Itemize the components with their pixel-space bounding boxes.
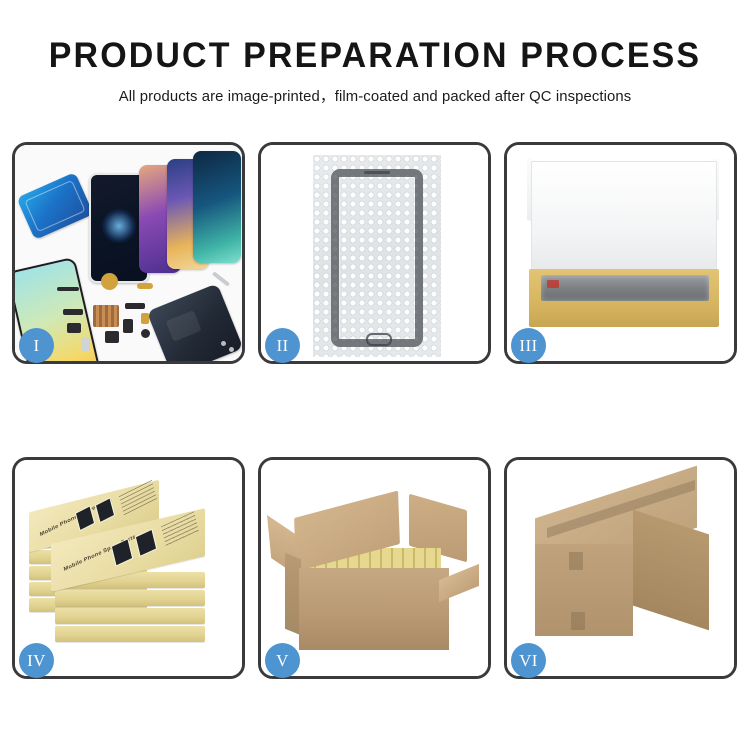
step-6-image xyxy=(507,460,734,676)
step-5-image xyxy=(261,460,488,676)
part-sim-tray xyxy=(81,337,90,351)
process-step-panel-6[interactable]: VI xyxy=(504,457,737,679)
part-camera-module xyxy=(105,331,119,343)
step-4-image: Mobile Phone Spare Parts Mobile Phone Sp… xyxy=(15,460,242,676)
phone-parts-scene xyxy=(15,145,242,361)
part-logic-board xyxy=(93,305,119,327)
box-spec-lines-front xyxy=(161,511,199,547)
phone-screen-teal xyxy=(193,151,241,263)
mailer-box-tray xyxy=(529,269,719,327)
process-step-panel-2[interactable]: II xyxy=(258,142,491,364)
sealed-carton-right-panel xyxy=(633,510,709,631)
process-step-panel-4[interactable]: Mobile Phone Spare Parts Mobile Phone Sp… xyxy=(12,457,245,679)
part-bracket-2 xyxy=(123,319,133,333)
stacked-box-front-3 xyxy=(55,590,205,606)
part-cable-1 xyxy=(63,309,83,315)
part-earpiece-mesh xyxy=(57,287,79,291)
step-badge-6: VI xyxy=(511,643,546,678)
part-speaker-coil xyxy=(101,273,118,290)
packed-screen-in-box xyxy=(541,275,709,301)
part-button xyxy=(141,329,150,338)
step-badge-1: I xyxy=(19,328,54,363)
page-subtitle: All products are image-printed，film-coat… xyxy=(4,75,747,106)
process-step-panel-5[interactable]: V xyxy=(258,457,491,679)
carton-front-panel xyxy=(299,568,449,650)
part-cable-2 xyxy=(125,303,145,309)
open-mailer-box-scene xyxy=(507,145,734,361)
part-flex-connector xyxy=(137,283,153,289)
page-header: PRODUCT PREPARATION PROCESS All products… xyxy=(0,0,750,106)
stacked-box-front-2 xyxy=(55,608,205,624)
phone-back-housing xyxy=(147,283,242,361)
step-1-image xyxy=(15,145,242,361)
process-step-panel-1[interactable]: I xyxy=(12,142,245,364)
part-screw-1 xyxy=(221,341,226,346)
wrapped-phone-screen xyxy=(331,169,423,347)
box-window-front-2 xyxy=(135,529,157,557)
bubble-wrap-scene xyxy=(261,145,488,361)
step-3-image xyxy=(507,145,734,361)
process-step-panel-3[interactable]: III xyxy=(504,142,737,364)
process-step-grid: I II III xyxy=(12,142,738,679)
screen-protector-blue xyxy=(16,172,93,240)
page-title: PRODUCT PREPARATION PROCESS xyxy=(11,0,739,75)
part-vibrator xyxy=(141,313,149,324)
part-bracket-1 xyxy=(67,323,81,333)
step-badge-2: II xyxy=(265,328,300,363)
step-badge-3: III xyxy=(511,328,546,363)
open-carton-scene xyxy=(261,460,488,676)
bubble-wrap-sheet xyxy=(313,155,441,357)
step-badge-4: IV xyxy=(19,643,54,678)
box-spec-lines-back xyxy=(119,480,157,516)
stacked-boxes-scene: Mobile Phone Spare Parts Mobile Phone Sp… xyxy=(15,460,242,676)
sealed-carton-tab-upper xyxy=(569,552,583,570)
stacked-box-front-1 xyxy=(55,626,205,642)
part-screw-2 xyxy=(229,347,234,352)
sealed-carton-tab-lower xyxy=(571,612,585,630)
step-badge-5: V xyxy=(265,643,300,678)
sealed-carton-scene xyxy=(507,460,734,676)
step-2-image xyxy=(261,145,488,361)
part-tweezers xyxy=(212,271,230,286)
mailer-foam-lid xyxy=(531,161,717,273)
